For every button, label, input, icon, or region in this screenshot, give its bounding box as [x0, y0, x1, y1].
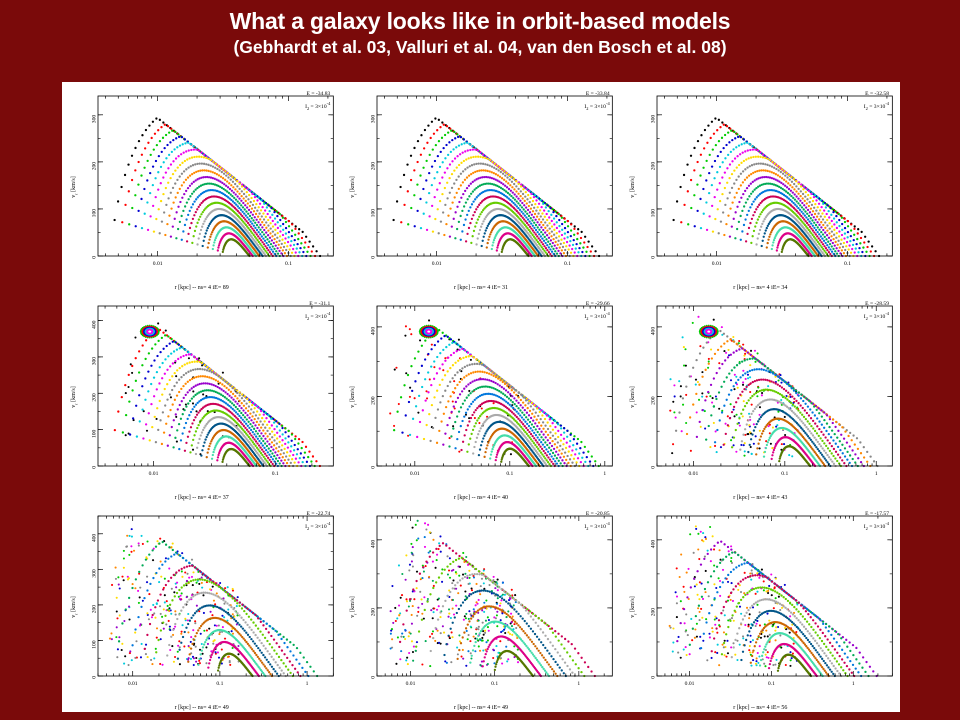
- y-axis-label: vr [km/s]: [350, 386, 357, 408]
- y-axis-label: vr [km/s]: [630, 386, 637, 408]
- svg-text:0.1: 0.1: [564, 261, 571, 267]
- y-axis-label: vr [km/s]: [71, 176, 78, 198]
- chart-panel: 0.010.110200400vr [km/s]r [kpc] -- ns= 4…: [341, 502, 620, 712]
- chart-panel: 0.010.10100200300vr [km/s]r [kpc] -- ns=…: [341, 82, 620, 292]
- panel-energy-annotation: E = -34.83: [307, 91, 331, 97]
- x-axis-label: r [kpc] -- ns= 4 iE= 43: [621, 495, 900, 501]
- figure-canvas: 0.010.10100200300vr [km/s]r [kpc] -- ns=…: [62, 82, 900, 712]
- title-block: What a galaxy looks like in orbit-based …: [0, 8, 960, 58]
- svg-text:200: 200: [650, 162, 656, 171]
- x-axis-label: r [kpc] -- ns= 4 iE= 37: [62, 495, 341, 501]
- x-axis-label: r [kpc] -- ns= 4 iE= 89: [62, 285, 341, 291]
- panel-energy-annotation: E = -22.74: [307, 511, 331, 517]
- page-subtitle: (Gebhardt et al. 03, Valluri et al. 04, …: [0, 37, 960, 58]
- svg-text:0.01: 0.01: [153, 261, 163, 267]
- svg-text:100: 100: [650, 209, 656, 218]
- panel-integral-annotation: I2 = 3×10-4: [584, 311, 609, 321]
- y-axis-label: vr [km/s]: [350, 596, 357, 618]
- svg-text:300: 300: [650, 115, 656, 124]
- x-axis-label: r [kpc] -- ns= 4 iE= 56: [621, 705, 900, 711]
- panel-plot-area: 0.010.10100200300400vr [km/s]r [kpc] -- …: [62, 292, 341, 502]
- chart-panel: 0.010.10100200300vr [km/s]r [kpc] -- ns=…: [62, 82, 341, 292]
- x-axis-label: r [kpc] -- ns= 4 iE= 49: [62, 705, 341, 711]
- panel-integral-annotation: I2 = 3×10-4: [864, 101, 889, 111]
- svg-text:300: 300: [91, 115, 97, 124]
- svg-text:0.1: 0.1: [285, 261, 292, 267]
- x-axis-label: r [kpc] -- ns= 4 iE= 34: [621, 285, 900, 291]
- panel-energy-annotation: E = -20.85: [586, 511, 610, 517]
- panel-plot-area: 0.010.110100200300400vr [km/s]r [kpc] --…: [62, 502, 341, 712]
- svg-text:0: 0: [650, 256, 656, 259]
- svg-text:0.1: 0.1: [844, 261, 851, 267]
- y-axis-label: vr [km/s]: [71, 596, 78, 618]
- x-axis-label: r [kpc] -- ns= 4 iE= 40: [341, 495, 620, 501]
- chart-panel: 0.010.110100200300400vr [km/s]r [kpc] --…: [62, 502, 341, 712]
- panel-plot-area: 0.010.10100200300vr [km/s]r [kpc] -- ns=…: [341, 82, 620, 292]
- panel-grid: 0.010.10100200300vr [km/s]r [kpc] -- ns=…: [62, 82, 900, 712]
- chart-panel: 0.010.110200400vr [km/s]r [kpc] -- ns= 4…: [621, 502, 900, 712]
- svg-text:300: 300: [371, 115, 377, 124]
- x-axis-label: r [kpc] -- ns= 4 iE= 49: [341, 705, 620, 711]
- panel-energy-annotation: E = -29.66: [586, 301, 610, 307]
- panel-energy-annotation: E = -28.59: [865, 301, 889, 307]
- panel-integral-annotation: I2 = 3×10-4: [584, 521, 609, 531]
- svg-text:100: 100: [371, 209, 377, 218]
- y-axis-label: vr [km/s]: [630, 176, 637, 198]
- svg-text:0: 0: [91, 256, 97, 259]
- panel-energy-annotation: E = -17.57: [865, 511, 889, 517]
- x-axis-label: r [kpc] -- ns= 4 iE= 31: [341, 285, 620, 291]
- panel-plot-area: 0.010.110200400vr [km/s]r [kpc] -- ns= 4…: [621, 292, 900, 502]
- svg-text:200: 200: [371, 162, 377, 171]
- panel-integral-annotation: I2 = 3×10-4: [864, 311, 889, 321]
- slide-root: What a galaxy looks like in orbit-based …: [0, 0, 960, 720]
- y-axis-label: vr [km/s]: [630, 596, 637, 618]
- chart-panel: 0.010.110200400vr [km/s]r [kpc] -- ns= 4…: [341, 292, 620, 502]
- y-axis-label: vr [km/s]: [71, 386, 78, 408]
- panel-plot-area: 0.010.110200400vr [km/s]r [kpc] -- ns= 4…: [341, 292, 620, 502]
- panel-integral-annotation: I2 = 3×10-4: [305, 521, 330, 531]
- chart-panel: 0.010.10100200300400vr [km/s]r [kpc] -- …: [62, 292, 341, 502]
- chart-panel: 0.010.110200400vr [km/s]r [kpc] -- ns= 4…: [621, 292, 900, 502]
- svg-text:200: 200: [91, 162, 97, 171]
- panel-plot-area: 0.010.110200400vr [km/s]r [kpc] -- ns= 4…: [621, 502, 900, 712]
- svg-text:0: 0: [371, 256, 377, 259]
- panel-integral-annotation: I2 = 3×10-4: [864, 521, 889, 531]
- panel-plot-area: 0.010.110200400vr [km/s]r [kpc] -- ns= 4…: [341, 502, 620, 712]
- panel-plot-area: 0.010.10100200300vr [km/s]r [kpc] -- ns=…: [62, 82, 341, 292]
- svg-text:0.01: 0.01: [432, 261, 442, 267]
- panel-plot-area: 0.010.10100200300vr [km/s]r [kpc] -- ns=…: [621, 82, 900, 292]
- panel-energy-annotation: E = -32.58: [865, 91, 889, 97]
- panel-energy-annotation: E = -33.84: [586, 91, 610, 97]
- panel-integral-annotation: I2 = 3×10-4: [584, 101, 609, 111]
- page-title: What a galaxy looks like in orbit-based …: [0, 8, 960, 34]
- chart-panel: 0.010.10100200300vr [km/s]r [kpc] -- ns=…: [621, 82, 900, 292]
- panel-energy-annotation: E = -31.1: [309, 301, 330, 307]
- panel-integral-annotation: I2 = 3×10-4: [305, 101, 330, 111]
- panel-integral-annotation: I2 = 3×10-4: [305, 311, 330, 321]
- svg-text:0.01: 0.01: [711, 261, 721, 267]
- y-axis-label: vr [km/s]: [350, 176, 357, 198]
- svg-text:100: 100: [91, 209, 97, 218]
